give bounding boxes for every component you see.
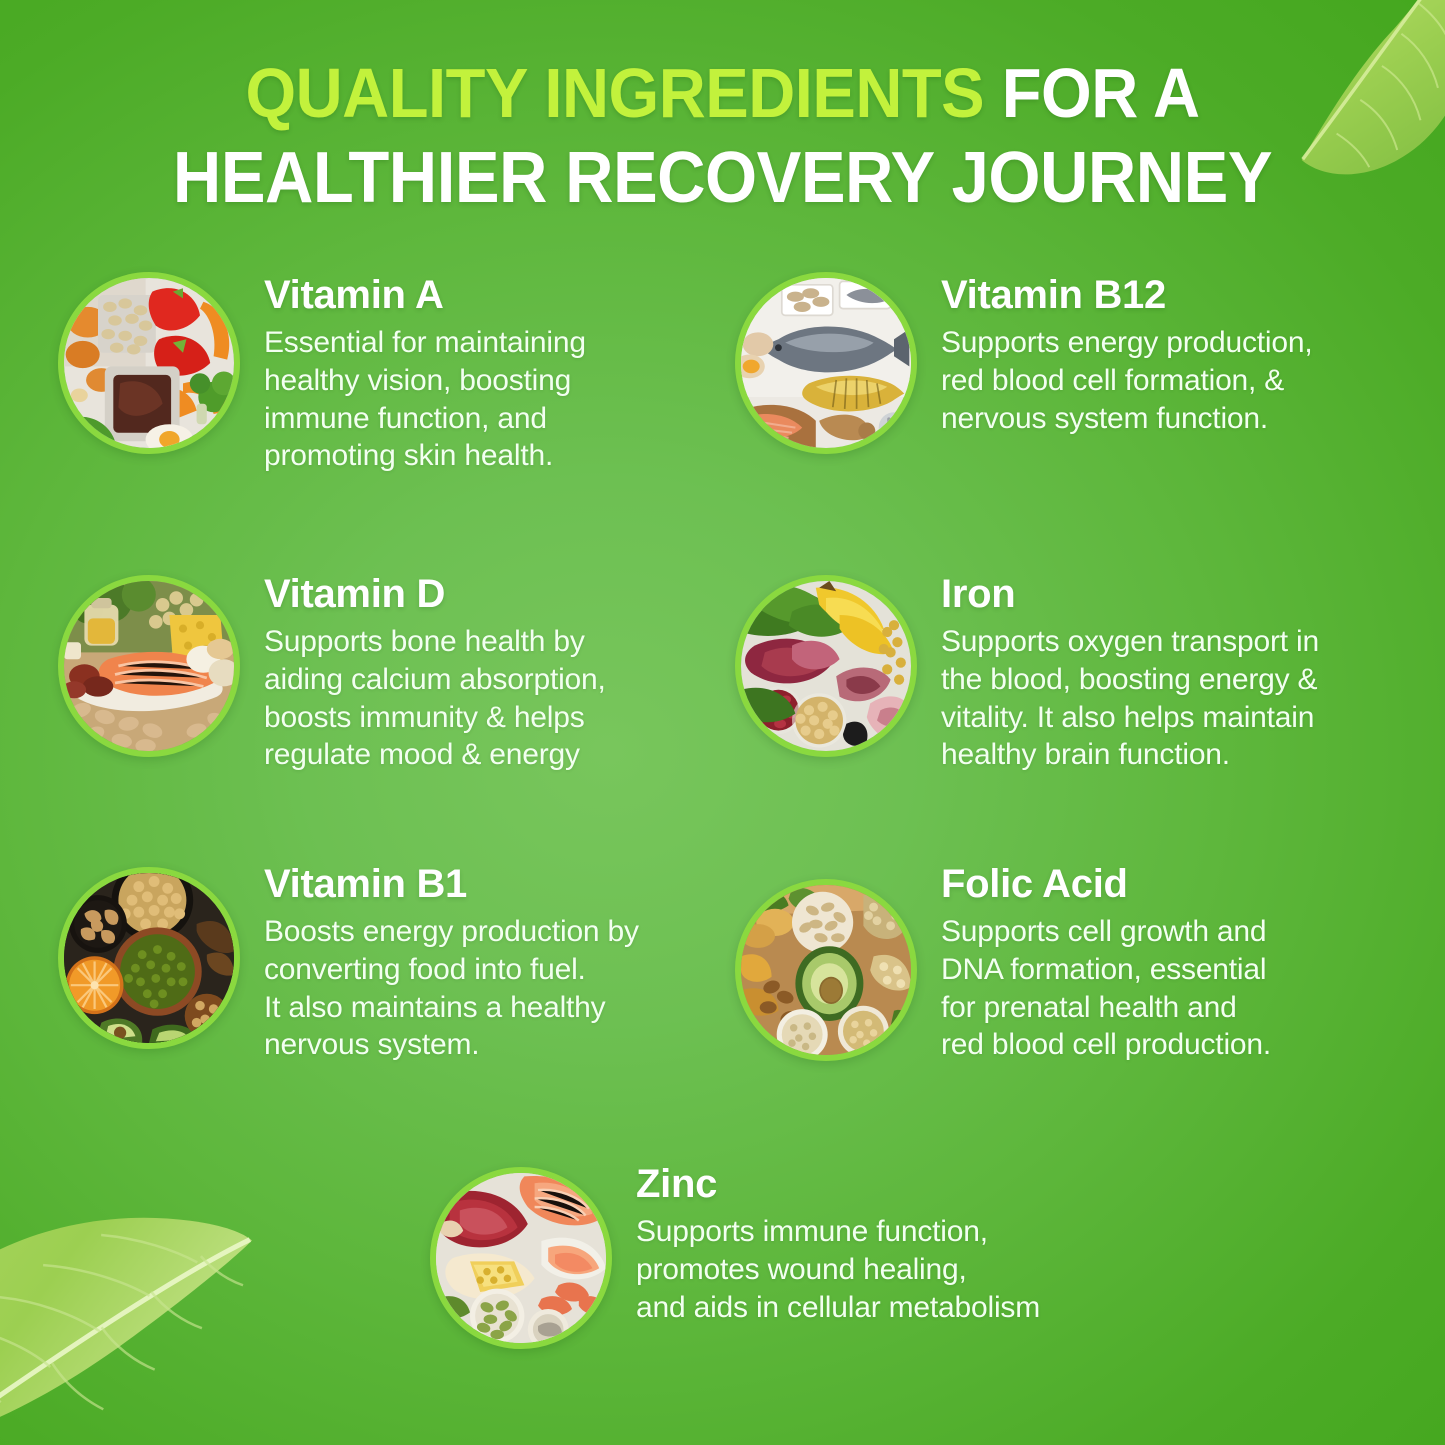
title-rest-text: FOR A	[984, 54, 1199, 132]
nutrient-title: Folic Acid	[941, 863, 1271, 905]
vitamin-a-foods-photo	[58, 272, 240, 454]
title-second-line: HEALTHIER RECOVERY JOURNEY	[51, 142, 1395, 214]
nutrient-description: Supports bone health by aiding calcium a…	[264, 623, 606, 774]
nutrient-row-2: Vitamin D Supports bone health by aiding…	[0, 567, 1445, 857]
nutrient-title: Zinc	[636, 1163, 1040, 1205]
nutrient-row-3: Vitamin B1 Boosts energy production by c…	[0, 857, 1445, 1157]
nutrient-description: Supports energy production, red blood ce…	[941, 324, 1313, 437]
nutrient-item-iron[interactable]: Iron Supports oxygen transport in the bl…	[735, 567, 1319, 774]
nutrient-title: Vitamin D	[264, 573, 606, 615]
nutrient-grid: Vitamin A Essential for maintaining heal…	[0, 272, 1445, 1407]
vitamin-b12-foods-photo	[735, 272, 917, 454]
title-accent-text: QUALITY INGREDIENTS	[245, 54, 984, 132]
nutrient-item-zinc[interactable]: Zinc Supports immune function, promotes …	[430, 1157, 1040, 1349]
folic-acid-foods-photo	[735, 879, 917, 1061]
nutrient-item-folic-acid[interactable]: Folic Acid Supports cell growth and DNA …	[735, 857, 1271, 1064]
nutrient-item-vitamin-b12[interactable]: Vitamin B12 Supports energy production, …	[735, 272, 1313, 454]
infographic-poster: QUALITY INGREDIENTS FOR A HEALTHIER RECO…	[0, 0, 1445, 1445]
nutrient-title: Vitamin B1	[264, 863, 639, 905]
nutrient-title: Vitamin B12	[941, 274, 1313, 316]
vitamin-d-foods-photo	[58, 575, 240, 757]
vitamin-b1-foods-photo	[58, 867, 240, 1049]
nutrient-row-4: Zinc Supports immune function, promotes …	[0, 1157, 1445, 1407]
iron-foods-photo	[735, 575, 917, 757]
nutrient-description: Supports oxygen transport in the blood, …	[941, 623, 1319, 774]
nutrient-title: Iron	[941, 573, 1319, 615]
nutrient-description: Supports cell growth and DNA formation, …	[941, 913, 1271, 1064]
nutrient-description: Boosts energy production by converting f…	[264, 913, 639, 1064]
nutrient-title: Vitamin A	[264, 274, 586, 316]
nutrient-item-vitamin-d[interactable]: Vitamin D Supports bone health by aiding…	[58, 567, 606, 774]
nutrient-description: Essential for maintaining healthy vision…	[264, 324, 586, 475]
nutrient-item-vitamin-b1[interactable]: Vitamin B1 Boosts energy production by c…	[58, 857, 639, 1064]
zinc-foods-photo	[430, 1167, 612, 1349]
nutrient-description: Supports immune function, promotes wound…	[636, 1213, 1040, 1326]
page-title: QUALITY INGREDIENTS FOR A HEALTHIER RECO…	[0, 58, 1445, 214]
nutrient-item-vitamin-a[interactable]: Vitamin A Essential for maintaining heal…	[58, 272, 586, 475]
nutrient-row-1: Vitamin A Essential for maintaining heal…	[0, 272, 1445, 567]
